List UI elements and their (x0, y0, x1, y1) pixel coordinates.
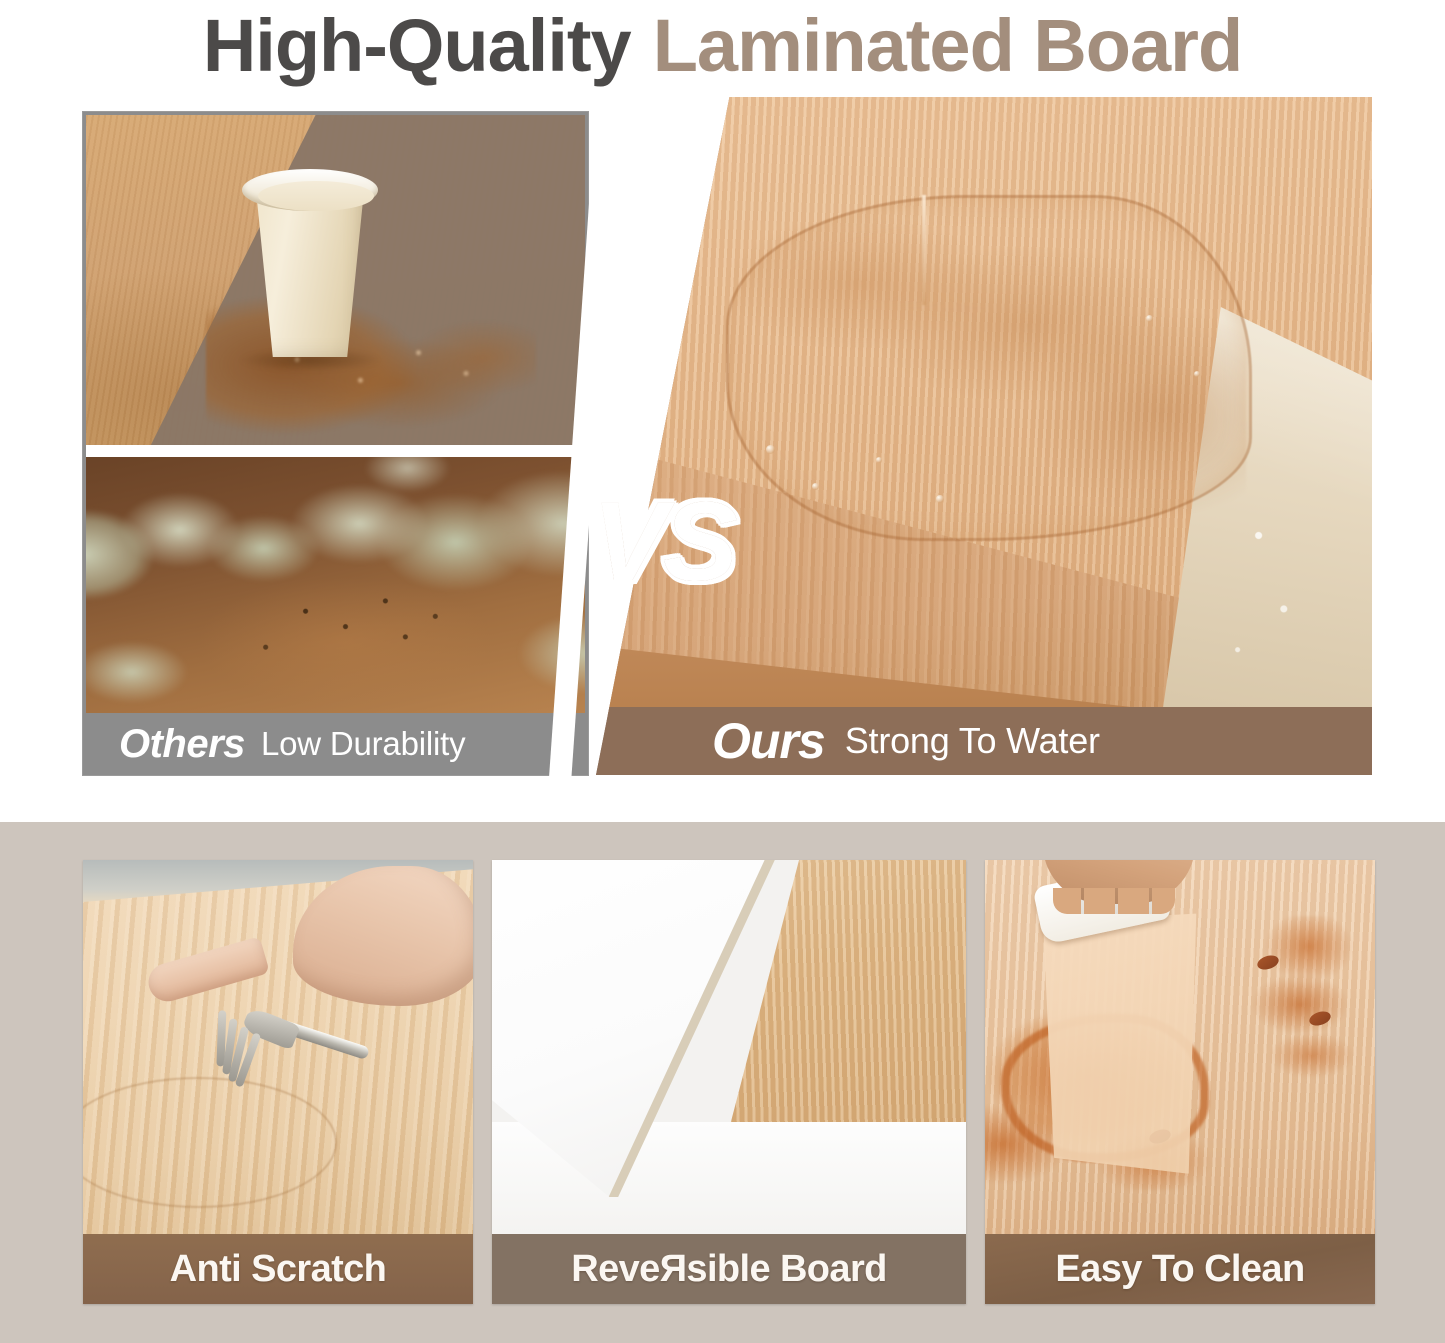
water-bead (766, 445, 775, 454)
others-title: Others (119, 722, 245, 767)
water-pool (726, 195, 1246, 535)
water-bead (812, 483, 819, 490)
ours-card: Ours Strong To Water (596, 97, 1372, 775)
water-drip (922, 195, 926, 305)
feature-label-text: ReveЯsible Board (571, 1248, 887, 1291)
ours-caption-bar: Ours Strong To Water (596, 707, 1372, 775)
feature-label-text: Anti Scratch (170, 1248, 387, 1291)
others-subtitle: Low Durability (261, 725, 465, 763)
cup-rim (242, 169, 378, 211)
feature-card-anti-scratch: Anti Scratch (83, 860, 473, 1304)
feature-label-anti-scratch: Anti Scratch (83, 1234, 473, 1304)
features-row: Anti Scratch ReveЯsible Board (83, 860, 1375, 1304)
sauce-stain-right (1219, 916, 1369, 1086)
ours-subtitle: Strong To Water (845, 720, 1100, 762)
feature-label-reversible-board: ReveЯsible Board (492, 1234, 966, 1304)
others-spill-photo (86, 115, 585, 445)
easy-to-clean-photo (985, 860, 1375, 1234)
others-caption-bar: Others Low Durability (83, 713, 588, 775)
water-bead (876, 457, 882, 463)
ours-water-photo (596, 97, 1372, 715)
feature-card-easy-to-clean: Easy To Clean (985, 860, 1375, 1304)
page-title-part-2: Laminated Board (653, 9, 1242, 83)
feature-label-text: Easy To Clean (1055, 1248, 1304, 1291)
water-bead (1146, 315, 1153, 322)
others-photo-divider (86, 445, 585, 457)
page-title: High-Quality Laminated Board (0, 0, 1445, 92)
feature-label-easy-to-clean: Easy To Clean (985, 1234, 1375, 1304)
vs-badge: VS (568, 482, 758, 602)
cup-inner (258, 181, 374, 211)
hand (1043, 860, 1195, 904)
reversible-board-photo (492, 860, 966, 1234)
paper-cup (236, 163, 384, 363)
water-bead (936, 495, 944, 503)
feature-card-reversible-board: ReveЯsible Board (492, 860, 966, 1304)
water-pool-edge (726, 195, 1252, 541)
comparison-section: Others Low Durability Ours Strong To Wat… (0, 92, 1445, 792)
features-section: Anti Scratch ReveЯsible Board (0, 822, 1445, 1343)
page-title-part-1: High-Quality (203, 9, 631, 83)
anti-scratch-photo (83, 860, 473, 1234)
others-mold-photo (86, 457, 585, 714)
others-card: Others Low Durability (83, 112, 588, 775)
ours-title: Ours (712, 712, 825, 770)
water-bead (1194, 371, 1200, 377)
